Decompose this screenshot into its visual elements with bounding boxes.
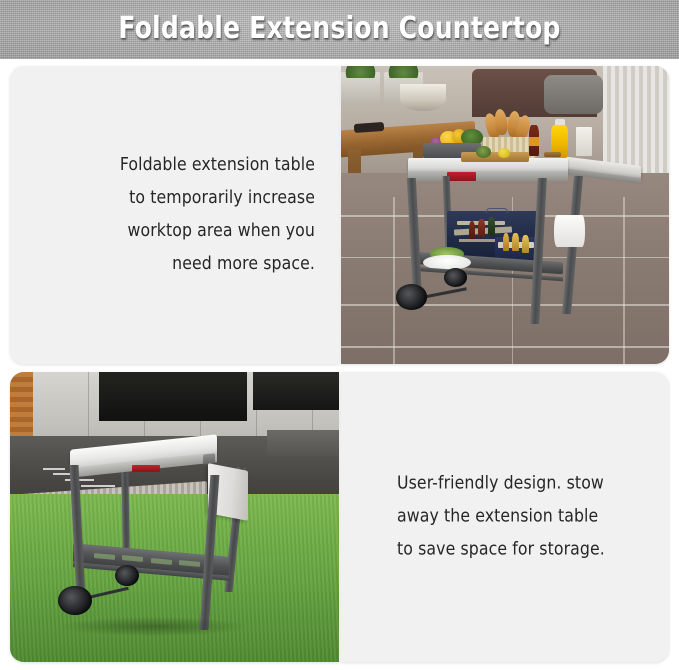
infographic-page: Foldable Extension Countertop Foldable e… [0,0,679,670]
window-opening [253,372,339,410]
decor-bowl [400,84,446,111]
caption-line: away the extension table [397,501,645,534]
page-title: Foldable Extension Countertop [24,11,655,47]
grill-cart [56,442,293,651]
caption-card-extension: Foldable extension table to temporarily … [10,66,339,364]
condiment-box [576,127,593,157]
caption-line: to save space for storage. [397,534,645,567]
paper-towel-roll [554,215,586,246]
plant-foliage-icon [387,66,420,78]
bottle [469,221,476,239]
caption-line: User-friendly design. stow [397,468,645,501]
caption-line: need more space. [34,248,315,281]
bottle [522,235,529,253]
cart-folded-photo [10,372,339,662]
cart-wheel [58,586,91,615]
header-banner: Foldable Extension Countertop [0,0,679,59]
caption-card-storage: User-friendly design. stow away the exte… [341,372,669,662]
carton-handle [486,208,508,213]
user-friendly-caption: User-friendly design. stow away the exte… [365,468,645,567]
cart-wheel [444,268,467,287]
lawn-scene [10,372,339,662]
tile-grout-line [341,346,669,348]
brand-badge [447,172,476,180]
bottle [512,233,519,251]
caption-line: Foldable extension table [34,149,315,182]
cart-leg [200,475,219,630]
cart-leg [69,465,85,599]
patio-scene [341,66,669,364]
caption-line: worktop area when you [34,215,315,248]
caption-line: to temporarily increase [34,182,315,215]
cart-wheel [396,284,428,310]
cutting-board [461,152,529,162]
cushion [544,75,603,114]
bottle [488,217,495,235]
foldable-extension-caption: Foldable extension table to temporarily … [34,149,315,281]
cart-wheel [115,565,139,586]
feature-row-bottom: User-friendly design. stow away the exte… [10,372,669,662]
bottle [478,219,485,237]
cart-leg [407,178,422,300]
sunglasses-icon [354,122,384,133]
knife-handle [544,152,561,157]
cart-leg [122,460,131,554]
cart-shadow [61,617,246,636]
carton-text [459,239,500,242]
plant-foliage-icon [344,66,377,78]
bottle [503,233,510,251]
cart-extended-photo [341,66,669,364]
window-opening [99,372,247,421]
grill-cart [393,146,636,343]
sauce-label [529,137,539,147]
brand-badge [132,465,160,473]
avocado [476,146,491,158]
feature-row-top: Foldable extension table to temporarily … [10,66,669,364]
